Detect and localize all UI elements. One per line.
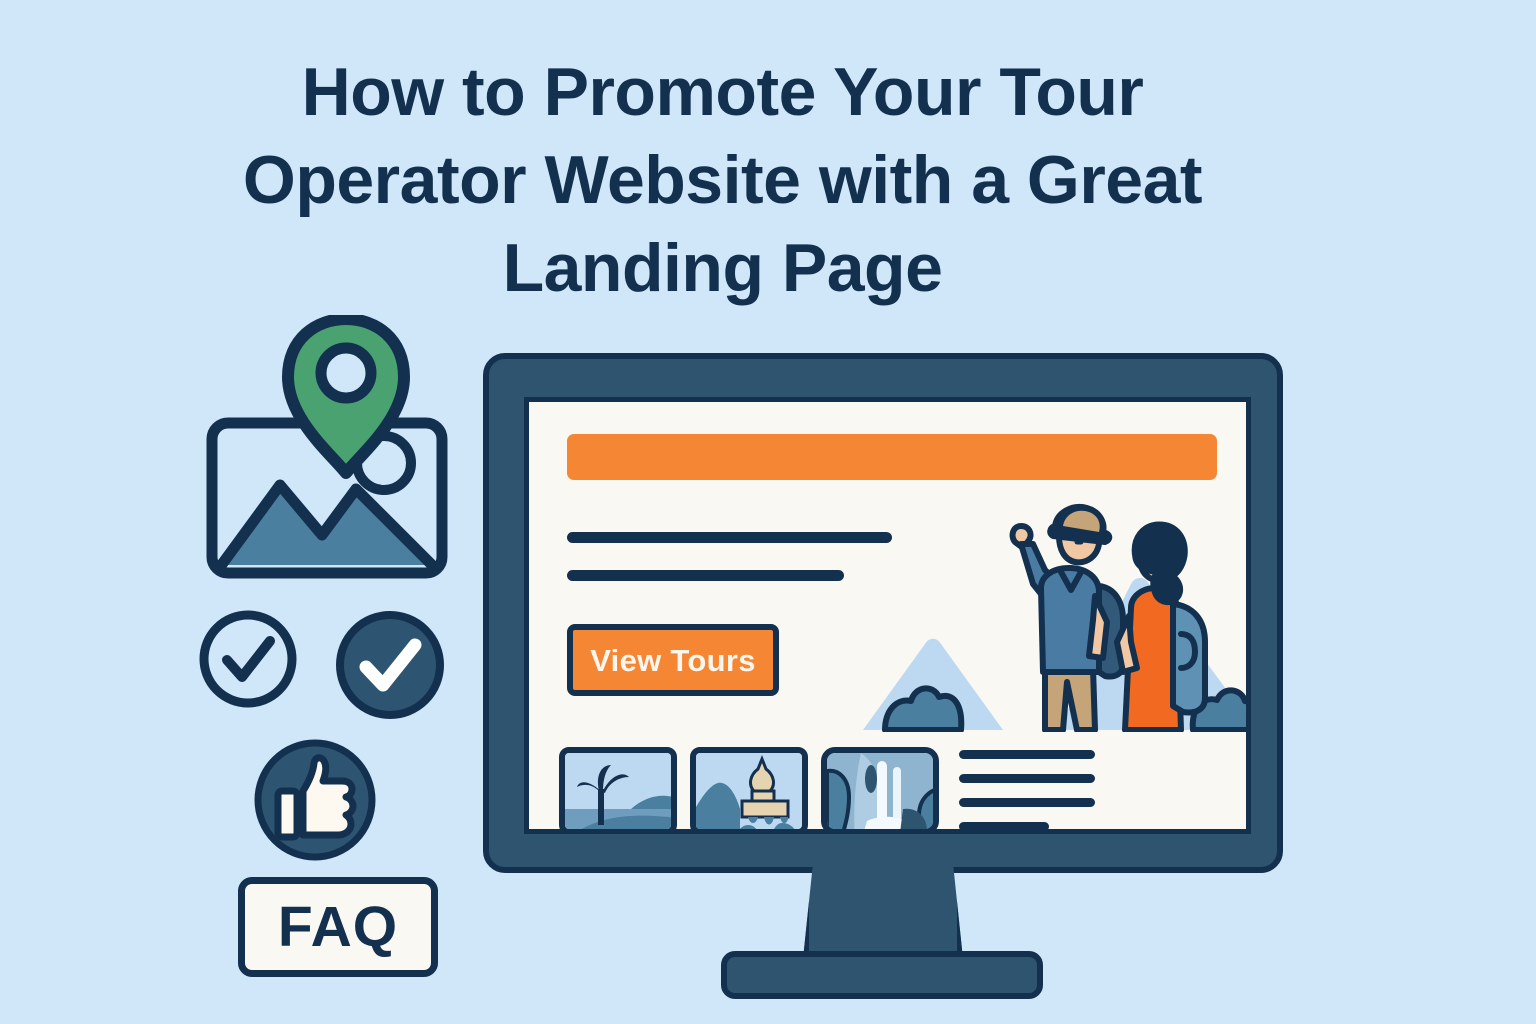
image-with-location-pin-icon [202, 315, 452, 585]
desktop-monitor: View Tours [483, 353, 1283, 993]
tour-description-line [959, 822, 1049, 831]
page-title-line-1: How to Promote Your Tour [150, 48, 1295, 136]
faq-label: FAQ [278, 899, 398, 956]
tour-card-temple[interactable] [690, 747, 808, 834]
illustration-canvas: How to Promote Your Tour Operator Websit… [0, 0, 1536, 1024]
tour-description-line [959, 750, 1095, 759]
check-badges-row [196, 607, 476, 727]
page-title-line-2: Operator Website with a Great [150, 136, 1295, 224]
check-circle-filled-icon [332, 607, 448, 723]
feature-icon-column: FAQ [190, 315, 480, 995]
page-title-line-3: Landing Page [150, 224, 1295, 312]
tour-cards-row [559, 747, 939, 834]
faq-badge[interactable]: FAQ [238, 877, 438, 977]
tour-card-waterfall[interactable] [821, 747, 939, 834]
tour-description-line [959, 774, 1095, 783]
view-tours-button[interactable]: View Tours [567, 624, 779, 696]
check-circle-outline-icon [196, 607, 300, 711]
page-title: How to Promote Your Tour Operator Websit… [150, 48, 1295, 312]
tour-description-line [959, 798, 1095, 807]
subhead-placeholder-line [567, 570, 844, 581]
headline-placeholder-line [567, 532, 892, 543]
hero-banner-bar [567, 434, 1217, 480]
tour-card-beach[interactable] [559, 747, 677, 834]
monitor-screen: View Tours [524, 397, 1251, 834]
hero-illustration-hikers [863, 492, 1251, 732]
monitor-stand-neck [803, 867, 963, 959]
thumbs-up-icon [250, 735, 380, 865]
tour-description-lines [959, 750, 1109, 834]
view-tours-label: View Tours [590, 645, 756, 676]
monitor-stand-base [721, 951, 1043, 999]
monitor-bezel: View Tours [483, 353, 1283, 873]
